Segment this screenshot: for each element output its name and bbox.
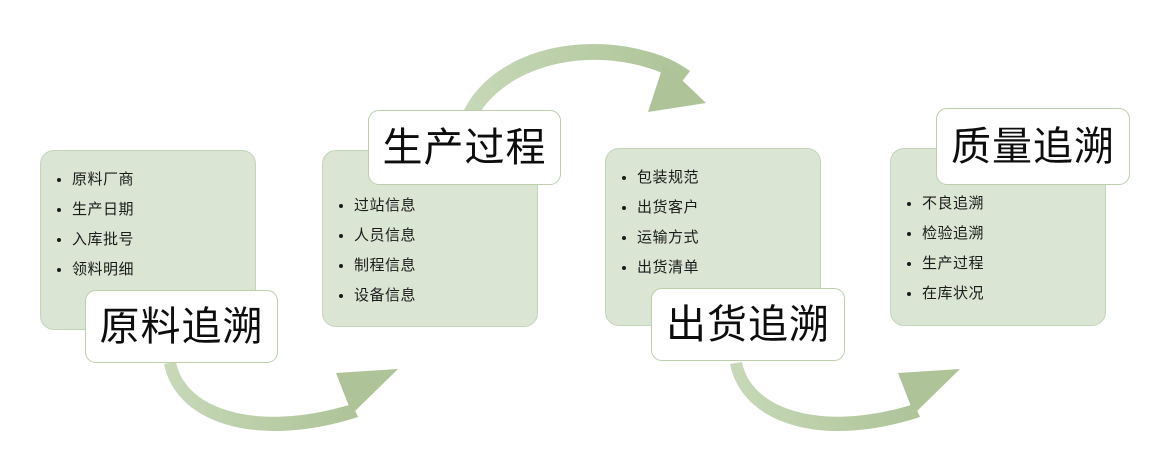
bullet-dot-icon — [57, 268, 61, 272]
list-item: 制程信息 — [337, 251, 529, 281]
stage-label-text: 原料追溯 — [100, 307, 264, 347]
list-item-label: 出货客户 — [637, 199, 699, 216]
list-item: 出货客户 — [620, 193, 812, 223]
arrow-raw-to-production-icon — [164, 362, 398, 431]
bullet-dot-icon — [622, 176, 626, 180]
bullet-dot-icon — [907, 232, 911, 236]
list-item-label: 原料厂商 — [72, 171, 134, 188]
list-item-label: 不良追溯 — [922, 195, 984, 212]
list-item-label: 入库批号 — [72, 231, 134, 248]
list-item-label: 人员信息 — [354, 227, 416, 244]
stage-label-shipment[interactable]: 出货追溯 — [651, 288, 845, 361]
list-item-label: 设备信息 — [354, 287, 416, 304]
stage-label-text: 质量追溯 — [951, 127, 1115, 167]
bullet-dot-icon — [622, 206, 626, 210]
bullet-dot-icon — [907, 292, 911, 296]
bullet-dot-icon — [57, 208, 61, 212]
stage-items-quality: 不良追溯 检验追溯 生产过程 在库状况 — [905, 189, 1097, 309]
list-item: 入库批号 — [55, 225, 247, 255]
list-item: 在库状况 — [905, 279, 1097, 309]
list-item: 生产过程 — [905, 249, 1097, 279]
stage-label-text: 出货追溯 — [666, 305, 830, 345]
stage-label-raw-material[interactable]: 原料追溯 — [85, 290, 278, 363]
list-item-label: 在库状况 — [922, 285, 984, 302]
list-item-label: 生产过程 — [922, 255, 984, 272]
list-item: 设备信息 — [337, 281, 529, 311]
list-item: 检验追溯 — [905, 219, 1097, 249]
list-item-label: 生产日期 — [72, 201, 134, 218]
diagram-canvas: 原料厂商 生产日期 入库批号 领料明细 原料追溯 过站信息 人员信息 制程信息 … — [0, 0, 1167, 471]
stage-items-production: 过站信息 人员信息 制程信息 设备信息 — [337, 191, 529, 311]
list-item-label: 运输方式 — [637, 229, 699, 246]
list-item: 过站信息 — [337, 191, 529, 221]
bullet-dot-icon — [622, 266, 626, 270]
list-item: 运输方式 — [620, 223, 812, 253]
list-item: 生产日期 — [55, 195, 247, 225]
bullet-dot-icon — [622, 236, 626, 240]
list-item-label: 过站信息 — [354, 197, 416, 214]
bullet-dot-icon — [339, 234, 343, 238]
stage-label-quality[interactable]: 质量追溯 — [936, 108, 1130, 185]
list-item: 不良追溯 — [905, 189, 1097, 219]
stage-items-raw-material: 原料厂商 生产日期 入库批号 领料明细 — [55, 165, 247, 285]
bullet-dot-icon — [339, 264, 343, 268]
list-item: 原料厂商 — [55, 165, 247, 195]
list-item: 出货清单 — [620, 253, 812, 283]
list-item-label: 制程信息 — [354, 257, 416, 274]
bullet-dot-icon — [907, 262, 911, 266]
list-item: 领料明细 — [55, 255, 247, 285]
list-item: 包装规范 — [620, 163, 812, 193]
bullet-dot-icon — [57, 238, 61, 242]
list-item: 人员信息 — [337, 221, 529, 251]
list-item-label: 包装规范 — [637, 169, 699, 186]
list-item-label: 检验追溯 — [922, 225, 984, 242]
stage-label-production[interactable]: 生产过程 — [368, 110, 561, 185]
bullet-dot-icon — [339, 204, 343, 208]
list-item-label: 出货清单 — [637, 259, 699, 276]
list-item-label: 领料明细 — [72, 261, 134, 278]
arrow-shipment-to-quality-icon — [730, 362, 960, 431]
stage-items-shipment: 包装规范 出货客户 运输方式 出货清单 — [620, 163, 812, 283]
bullet-dot-icon — [339, 294, 343, 298]
stage-label-text: 生产过程 — [383, 128, 547, 168]
bullet-dot-icon — [907, 202, 911, 206]
bullet-dot-icon — [57, 178, 61, 182]
